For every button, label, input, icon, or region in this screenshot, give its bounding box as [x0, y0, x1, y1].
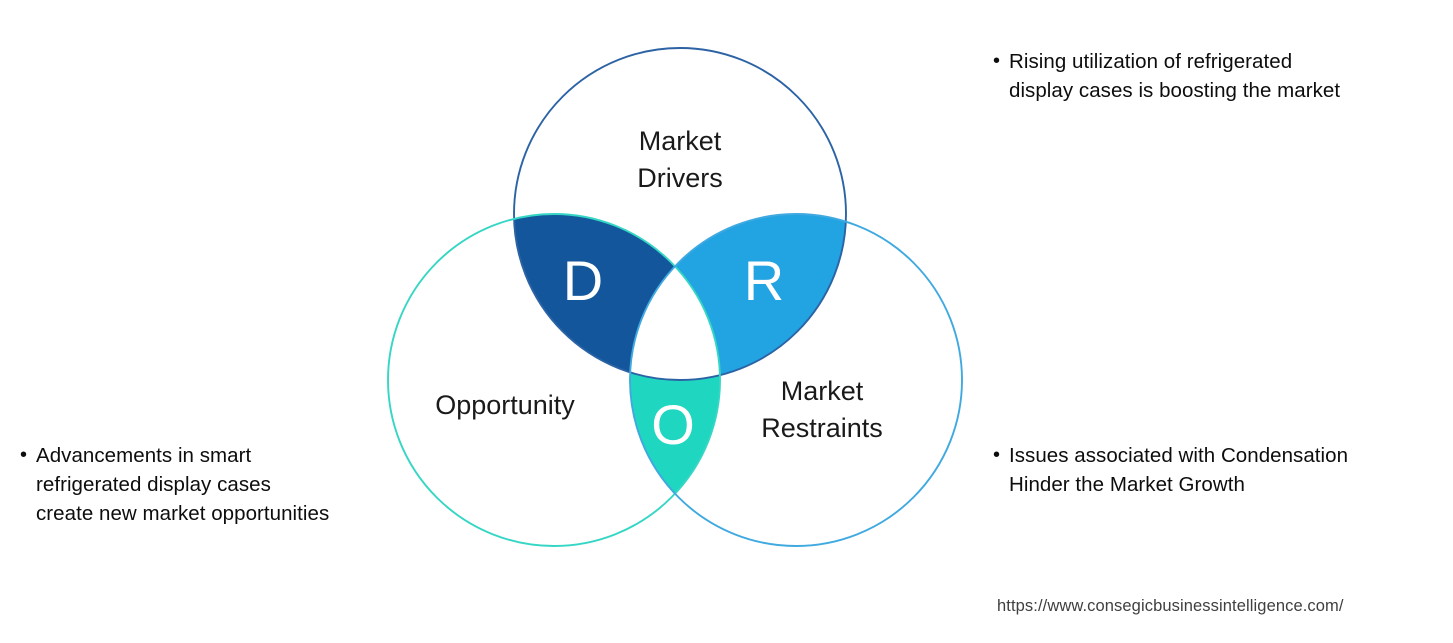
callout-market-restraints: • Issues associated with Condensation Hi…	[993, 441, 1443, 499]
circle-label-drivers-line1: Market	[639, 126, 722, 156]
circle-label-restraints-line1: Market	[781, 376, 864, 406]
callout-market-drivers: • Rising utilization of refrigerated dis…	[993, 47, 1433, 105]
callout-market-restraints-text: Issues associated with Condensation Hind…	[1009, 441, 1443, 499]
circle-label-restraints-line2: Restraints	[761, 413, 883, 443]
lens-initial-r: R	[744, 249, 784, 312]
lens-initial-d: D	[563, 249, 603, 312]
bullet-icon: •	[993, 441, 1009, 469]
callout-market-drivers-text: Rising utilization of refrigerated displ…	[1009, 47, 1433, 105]
bullet-icon: •	[993, 47, 1009, 75]
circle-label-opportunity: Opportunity	[435, 390, 575, 420]
callout-opportunity: • Advancements in smart refrigerated dis…	[20, 441, 410, 528]
lens-initial-o: O	[651, 393, 695, 456]
callout-opportunity-text: Advancements in smart refrigerated displ…	[36, 441, 410, 528]
bullet-icon: •	[20, 441, 36, 469]
circle-label-drivers-line2: Drivers	[637, 163, 723, 193]
source-url-link[interactable]: https://www.consegicbusinessintelligence…	[997, 597, 1344, 616]
